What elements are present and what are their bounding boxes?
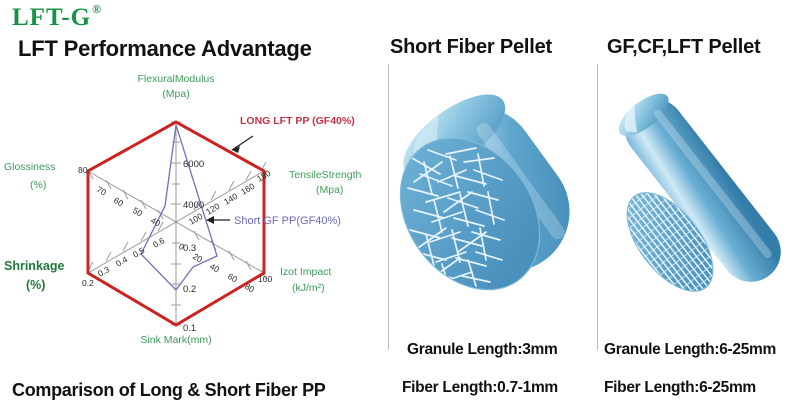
legend-arrow-long (232, 136, 253, 153)
tick-fm-6000: 6000 (183, 159, 204, 170)
tick-sm-0.3: 0.3 (183, 243, 196, 254)
panel-title-short-fiber: Short Fiber Pellet (390, 36, 552, 59)
short-fiber-granule-length: Granule Length:3mm (407, 341, 557, 359)
tick-ii-100: 100 (258, 274, 272, 284)
left-panel-caption: Comparison of Long & Short Fiber PP (12, 380, 326, 401)
tick-sh-0.3: 0.3 (96, 264, 111, 279)
lft-granule-length: Granule Length:6-25mm (604, 341, 776, 359)
tick-gl-50: 50 (131, 205, 144, 219)
lft-fiber-length: Fiber Length:6-25mm (604, 379, 756, 397)
axis-unit-tensile-strength: (Mpa) (316, 184, 343, 196)
short-fiber-fiber-length: Fiber Length:0.7-1mm (402, 379, 558, 397)
tick-sh-0.2: 0.2 (82, 278, 94, 288)
short-fiber-pellet-illustration (398, 62, 594, 324)
legend-short-gf-pp: Short GF PP(GF40%) (234, 215, 341, 227)
axis-label-flexural-modulus: FlexuralModulus (137, 73, 214, 85)
axis-label-tensile-strength: TensileStrength (289, 169, 362, 181)
axis-unit-flexural-modulus: (Mpa) (162, 88, 189, 100)
legend-long-lft-pp: LONG LFT PP (GF40%) (240, 115, 355, 127)
tick-ts-180: 180 (255, 168, 273, 184)
lft-pellet-illustration (612, 62, 792, 324)
tick-gl-80: 80 (78, 165, 88, 175)
tick-gl-70: 70 (95, 184, 108, 198)
tick-ii-60: 60 (226, 271, 239, 285)
brand-logo: LFT-G® (12, 4, 101, 32)
registered-trademark-icon: ® (92, 2, 102, 16)
tick-ts-100: 100 (187, 211, 205, 227)
axis-unit-glossiness: (%) (30, 179, 46, 191)
axis-label-shrinkage: Shrinkage (4, 259, 64, 273)
radar-chart: FlexuralModulus (Mpa) TensileStrength (M… (0, 58, 388, 358)
panel-title-lft-pellet: GF,CF,LFT Pellet (607, 36, 760, 59)
tick-sm-0.2: 0.2 (183, 284, 196, 295)
infographic-canvas: LFT-G® LFT Performance Advantage Short F… (0, 0, 799, 419)
divider-left (388, 64, 389, 350)
axis-label-sink-mark: Sink Mark(mm) (140, 334, 211, 346)
tick-fm-4000: 4000 (183, 200, 204, 211)
tick-ts-120: 120 (204, 201, 222, 217)
tick-sh-0.6: 0.6 (151, 235, 166, 250)
axis-label-glossiness: Glossiness (4, 161, 55, 173)
tick-gl-60: 60 (112, 195, 125, 209)
tick-group-shrinkage: 0.6 0.5 0.4 0.3 0.2 (82, 235, 166, 288)
tick-ts-160: 160 (239, 181, 257, 197)
tick-sm-0.1: 0.1 (183, 323, 196, 334)
brand-name: LFT-G (12, 4, 91, 31)
axis-unit-izot-impact: (kJ/m²) (292, 282, 325, 294)
axis-unit-shrinkage: (%) (26, 278, 45, 292)
axis-label-izot-impact: Izot Impact (280, 266, 331, 278)
divider-right (597, 64, 598, 350)
tick-ii-40: 40 (208, 261, 221, 275)
legend-arrow-short (206, 216, 230, 224)
tick-ts-140: 140 (222, 191, 240, 207)
